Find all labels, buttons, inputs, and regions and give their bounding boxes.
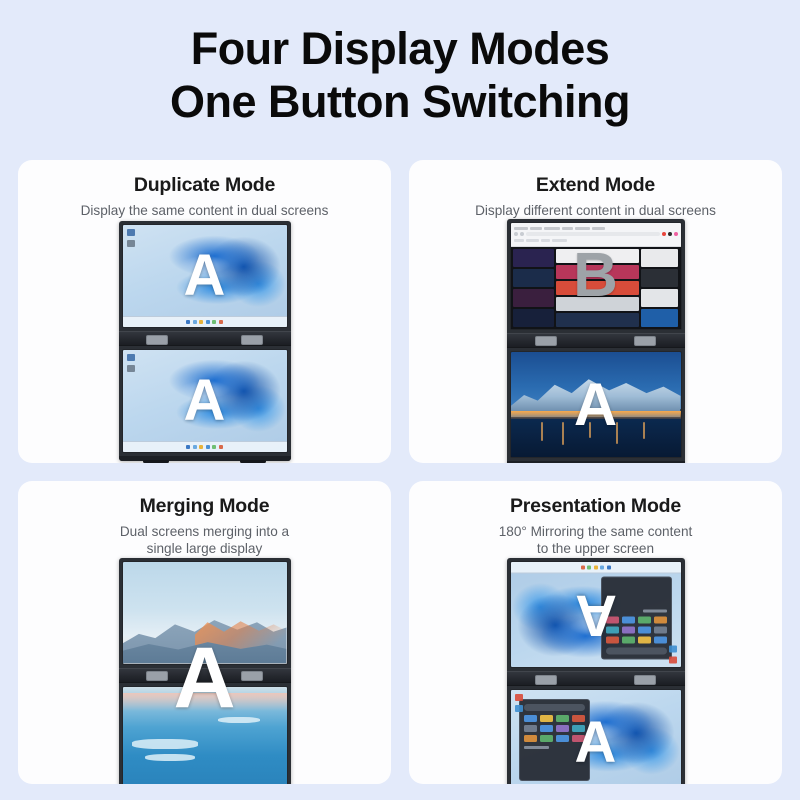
browser-action-icon[interactable]: [674, 232, 678, 236]
windows-bloom-graphic: [168, 354, 286, 442]
start-app-icon[interactable]: [572, 725, 585, 732]
light-reflection: [643, 422, 645, 440]
device-foot: [119, 456, 291, 461]
desktop-icon: [669, 656, 677, 663]
start-app-grid: [606, 616, 667, 643]
start-app-icon[interactable]: [654, 616, 667, 623]
taskbar-icon: [199, 320, 203, 324]
content-tile[interactable]: [513, 269, 554, 287]
taskbar-icon: [193, 445, 197, 449]
hinge-bracket-right: [241, 335, 263, 345]
start-app-icon[interactable]: [556, 725, 569, 732]
hinge-bracket-right: [634, 675, 656, 685]
device-illustration-wrap: A: [18, 558, 391, 784]
start-app-icon[interactable]: [556, 735, 569, 742]
start-app-grid: [524, 715, 585, 742]
taskbar-icon: [186, 320, 190, 324]
start-app-icon[interactable]: [524, 725, 537, 732]
content-tile[interactable]: [556, 265, 639, 279]
card-subtitle: Display different content in dual screen…: [463, 202, 728, 219]
browser-window: [511, 223, 681, 329]
start-app-icon[interactable]: [638, 636, 651, 643]
bookmark[interactable]: [514, 239, 524, 242]
browser-tab: [530, 227, 542, 230]
start-app-icon[interactable]: [622, 636, 635, 643]
card-title: Merging Mode: [140, 495, 270, 518]
desktop-icon: [127, 229, 135, 236]
dual-screen-device: A: [119, 221, 291, 461]
light-reflection: [589, 422, 591, 439]
hinge-bracket-right: [241, 671, 263, 681]
village-lights: [511, 411, 681, 419]
card-subtitle: Display the same content in dual screens: [69, 202, 341, 219]
hinge-bracket-left: [535, 675, 557, 685]
start-app-icon[interactable]: [540, 735, 553, 742]
start-app-icon[interactable]: [556, 715, 569, 722]
forward-icon[interactable]: [520, 232, 524, 236]
content-tile[interactable]: [641, 269, 679, 287]
taskbar-icon: [206, 445, 210, 449]
start-section-label: [524, 746, 549, 749]
desktop-icons: [127, 229, 135, 247]
taskbar-icon: [199, 445, 203, 449]
dual-screen-device: A: [119, 558, 291, 784]
start-section-label: [642, 609, 667, 612]
desktop-icon: [127, 240, 135, 247]
bookmark[interactable]: [552, 239, 567, 242]
browser-tab: [544, 227, 560, 230]
card-duplicate-mode[interactable]: Duplicate Mode Display the same content …: [18, 160, 391, 463]
taskbar-icon: [600, 565, 604, 569]
card-presentation-mode[interactable]: Presentation Mode 180° Mirroring the sam…: [409, 481, 782, 784]
ice-patch: [218, 717, 261, 723]
light-reflection: [616, 422, 618, 444]
light-reflection: [541, 422, 543, 441]
taskbar-icon: [594, 565, 598, 569]
page-title: Four Display Modes One Button Switching: [0, 0, 800, 128]
bottom-screen: A: [510, 351, 682, 459]
desktop-icon: [515, 705, 523, 712]
light-reflection: [562, 422, 564, 445]
bottom-screen: A: [510, 689, 682, 784]
start-menu: [519, 699, 590, 781]
taskbar-icon: [219, 320, 223, 324]
device-illustration-wrap: A: [18, 219, 391, 463]
taskbar-icon: [587, 565, 591, 569]
taskbar-icon: [212, 320, 216, 324]
lake-reflection-photo: [123, 687, 287, 784]
taskbar: [511, 562, 681, 574]
browser-action-icon[interactable]: [668, 232, 672, 236]
card-subtitle: 180° Mirroring the same content to the u…: [487, 523, 705, 558]
taskbar: [123, 441, 287, 452]
dual-screen-device: A: [507, 558, 685, 784]
bottom-screen: [122, 686, 288, 784]
start-app-icon[interactable]: [606, 626, 619, 633]
browser-tab: [592, 227, 605, 230]
content-tile[interactable]: [513, 289, 554, 307]
content-tile[interactable]: [641, 289, 679, 307]
content-tile[interactable]: [513, 249, 554, 267]
card-title: Extend Mode: [536, 174, 655, 197]
start-search-box[interactable]: [524, 704, 585, 711]
desktop: A: [511, 690, 681, 784]
windows-wallpaper: [123, 225, 287, 327]
taskbar-icon: [581, 565, 585, 569]
card-title: Presentation Mode: [510, 495, 681, 518]
desktop-icon: [515, 694, 523, 701]
browser-tab: [562, 227, 573, 230]
night-water: [511, 417, 681, 457]
start-menu: [601, 577, 672, 659]
ice-patch: [145, 754, 194, 761]
top-screen: [122, 561, 288, 665]
rotated-desktop: A: [511, 562, 681, 668]
mode-card-grid: Duplicate Mode Display the same content …: [18, 160, 782, 784]
device-hinge: [119, 668, 291, 683]
windows-wallpaper: [123, 350, 287, 452]
desktop-icon: [127, 354, 135, 361]
browser-chrome: [511, 223, 681, 246]
night-photo: A: [511, 352, 681, 458]
start-app-icon[interactable]: [606, 616, 619, 623]
back-icon[interactable]: [514, 232, 518, 236]
content-tile[interactable]: [556, 297, 639, 311]
start-app-icon[interactable]: [540, 725, 553, 732]
bookmark[interactable]: [526, 239, 539, 242]
device-hinge: [119, 331, 291, 346]
taskbar-icon: [206, 320, 210, 324]
desktop-icon: [127, 365, 135, 372]
desktop-icons: [669, 645, 677, 663]
address-bar[interactable]: [526, 232, 660, 236]
card-title: Duplicate Mode: [134, 174, 275, 197]
water-reflection-glow: [123, 693, 287, 711]
hinge-bracket-left: [535, 336, 557, 346]
windows-bloom-graphic: [168, 230, 286, 318]
content-column-left: [513, 249, 554, 327]
start-app-icon[interactable]: [572, 715, 585, 722]
browser-bookmark-row: [514, 237, 678, 243]
browser-action-icon[interactable]: [662, 232, 666, 236]
card-merging-mode[interactable]: Merging Mode Dual screens merging into a…: [18, 481, 391, 784]
content-tile[interactable]: [641, 249, 679, 267]
device-illustration-wrap: A: [409, 558, 782, 784]
desktop-icons: [515, 694, 523, 712]
card-extend-mode[interactable]: Extend Mode Display different content in…: [409, 160, 782, 463]
dawn-mountain-photo: [123, 562, 287, 664]
start-app-icon[interactable]: [622, 616, 635, 623]
taskbar-icon: [219, 445, 223, 449]
content-tile[interactable]: [556, 281, 639, 295]
dual-screen-device: B: [507, 219, 685, 463]
hinge-bracket-right: [634, 336, 656, 346]
device-illustration-wrap: B: [409, 219, 782, 463]
start-app-icon[interactable]: [524, 715, 537, 722]
bookmark[interactable]: [541, 239, 550, 242]
start-app-icon[interactable]: [524, 735, 537, 742]
start-app-icon[interactable]: [572, 735, 585, 742]
content-column-center: [556, 249, 639, 327]
browser-tab: [575, 227, 590, 230]
browser-content: [511, 247, 681, 329]
start-app-icon[interactable]: [654, 636, 667, 643]
top-screen: A: [510, 561, 682, 669]
content-column-right: [641, 249, 679, 327]
hinge-bracket-left: [146, 335, 168, 345]
card-subtitle: Dual screens merging into a single large…: [108, 523, 301, 558]
start-app-icon[interactable]: [638, 626, 651, 633]
device-hinge: [507, 671, 685, 686]
taskbar: [123, 316, 287, 327]
start-app-icon[interactable]: [540, 715, 553, 722]
start-app-icon[interactable]: [654, 626, 667, 633]
device-hinge: [507, 333, 685, 348]
start-app-icon[interactable]: [622, 626, 635, 633]
device-foot: [507, 461, 685, 463]
hinge-bracket-left: [146, 671, 168, 681]
taskbar-icon: [186, 445, 190, 449]
taskbar-icon: [607, 565, 611, 569]
content-tile[interactable]: [513, 309, 554, 327]
browser-tab: [514, 227, 528, 230]
start-app-icon[interactable]: [638, 616, 651, 623]
desktop-icon: [669, 645, 677, 652]
desktop-icons: [127, 354, 135, 372]
top-screen: B: [510, 222, 682, 330]
content-tile[interactable]: [641, 309, 679, 327]
start-app-icon[interactable]: [606, 636, 619, 643]
top-screen: A: [122, 224, 288, 328]
taskbar-icon: [212, 445, 216, 449]
taskbar-icon: [193, 320, 197, 324]
start-search-box[interactable]: [606, 647, 667, 654]
infographic-page: Four Display Modes One Button Switching …: [0, 0, 800, 800]
content-tile[interactable]: [556, 313, 639, 327]
headline-line-1: Four Display Modes: [191, 23, 610, 74]
content-tile[interactable]: [556, 249, 639, 263]
headline-line-2: One Button Switching: [0, 75, 800, 128]
bottom-screen: A: [122, 349, 288, 453]
ice-patch: [132, 739, 198, 748]
